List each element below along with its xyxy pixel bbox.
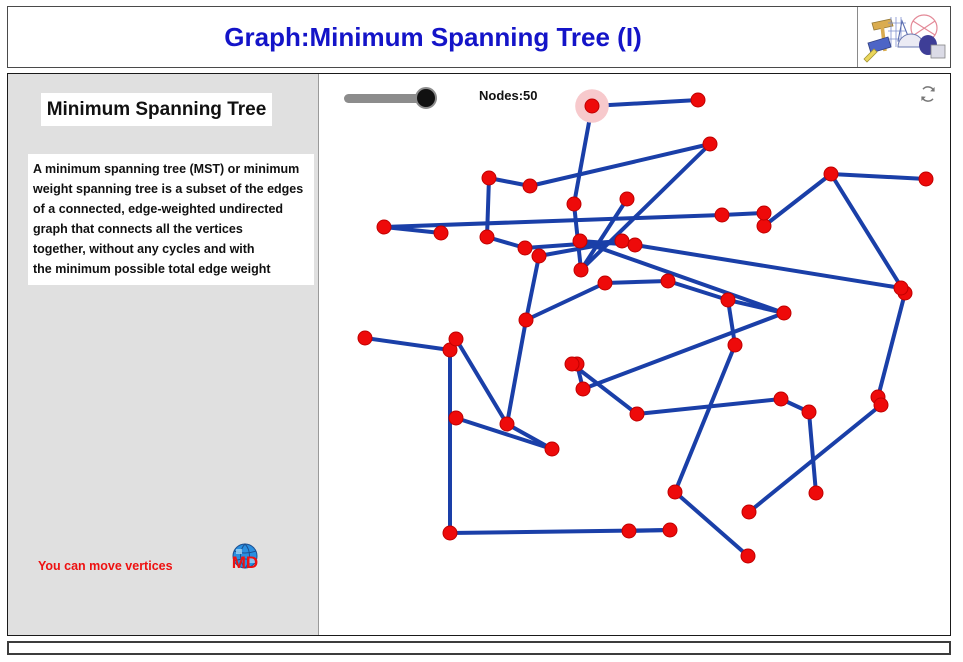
graph-edge xyxy=(583,313,784,389)
graph-edge xyxy=(526,256,539,320)
graph-node[interactable] xyxy=(449,332,463,346)
graph-node[interactable] xyxy=(757,219,771,233)
graph-edge xyxy=(831,174,926,179)
app-page: Graph:Minimum Spanning Tree (I) xyxy=(0,0,963,662)
graph-node[interactable] xyxy=(532,249,546,263)
graph-node[interactable] xyxy=(377,220,391,234)
graph-node[interactable] xyxy=(628,238,642,252)
graph-node[interactable] xyxy=(622,524,636,538)
bottom-strip xyxy=(7,641,951,655)
mst-graph[interactable] xyxy=(319,74,950,635)
graph-node[interactable] xyxy=(703,137,717,151)
graph-node[interactable] xyxy=(565,357,579,371)
graph-edge xyxy=(809,412,816,493)
geometry-tools-clipart-icon xyxy=(857,7,950,67)
graph-node[interactable] xyxy=(919,172,933,186)
graph-node[interactable] xyxy=(741,549,755,563)
graph-node[interactable] xyxy=(742,505,756,519)
graph-node[interactable] xyxy=(576,382,590,396)
graph-edge xyxy=(530,144,710,186)
graph-node[interactable] xyxy=(519,313,533,327)
graph-node[interactable] xyxy=(358,331,372,345)
page-title: Graph:Minimum Spanning Tree (I) xyxy=(8,7,858,67)
graph-node[interactable] xyxy=(757,206,771,220)
graph-edge xyxy=(581,144,710,270)
graph-node[interactable] xyxy=(443,526,457,540)
graph-edge xyxy=(764,174,831,226)
desc-line: of a connected, edge-weighted undirected xyxy=(33,199,310,219)
move-vertices-hint: You can move vertices xyxy=(38,559,173,573)
graph-edge xyxy=(384,215,722,227)
graph-node[interactable] xyxy=(574,263,588,277)
graph-edge xyxy=(487,178,489,237)
graph-node[interactable] xyxy=(668,485,682,499)
graph-node[interactable] xyxy=(449,411,463,425)
graph-edge xyxy=(365,338,450,350)
graph-node[interactable] xyxy=(523,179,537,193)
graph-canvas[interactable]: Nodes:50 xyxy=(319,74,950,635)
graph-edge xyxy=(456,339,507,424)
graph-edge xyxy=(878,293,905,397)
panel-title: Minimum Spanning Tree xyxy=(41,93,272,126)
sidebar: Minimum Spanning Tree A minimum spanning… xyxy=(8,74,319,635)
desc-line: the minimum possible total edge weight xyxy=(33,259,310,279)
graph-node[interactable] xyxy=(721,293,735,307)
graph-node[interactable] xyxy=(567,197,581,211)
graph-node[interactable] xyxy=(573,234,587,248)
graph-node[interactable] xyxy=(620,192,634,206)
graph-edge xyxy=(526,283,605,320)
graph-node[interactable] xyxy=(715,208,729,222)
graph-node[interactable] xyxy=(518,241,532,255)
graph-node[interactable] xyxy=(630,407,644,421)
graph-node[interactable] xyxy=(480,230,494,244)
graph-node[interactable] xyxy=(500,417,514,431)
graph-node[interactable] xyxy=(824,167,838,181)
desc-line: graph that connects all the vertices xyxy=(33,219,310,239)
mst-description: A minimum spanning tree (MST) or minimum… xyxy=(28,154,314,285)
graph-edge xyxy=(675,345,735,492)
graph-edge xyxy=(675,492,748,556)
graph-node[interactable] xyxy=(894,281,908,295)
graph-edge xyxy=(831,174,905,293)
graph-edge xyxy=(605,281,668,283)
main-frame: Minimum Spanning Tree A minimum spanning… xyxy=(7,73,951,636)
graph-node[interactable] xyxy=(728,338,742,352)
graph-node[interactable] xyxy=(802,405,816,419)
graph-node[interactable] xyxy=(545,442,559,456)
graph-node[interactable] xyxy=(434,226,448,240)
graph-node[interactable] xyxy=(777,306,791,320)
graph-node[interactable] xyxy=(615,234,629,248)
graph-node[interactable] xyxy=(661,274,675,288)
graph-node[interactable] xyxy=(585,99,599,113)
graph-node[interactable] xyxy=(598,276,612,290)
svg-text:MD: MD xyxy=(232,553,258,572)
graph-node[interactable] xyxy=(874,398,888,412)
md-globe-logo-icon: MD xyxy=(226,540,264,578)
desc-line: A minimum spanning tree (MST) or minimum xyxy=(33,159,310,179)
graph-node[interactable] xyxy=(482,171,496,185)
desc-line: together, without any cycles and with xyxy=(33,239,310,259)
desc-line: weight spanning tree is a subset of the … xyxy=(33,179,310,199)
graph-node[interactable] xyxy=(809,486,823,500)
graph-edge xyxy=(507,320,526,424)
graph-node[interactable] xyxy=(691,93,705,107)
graph-node[interactable] xyxy=(774,392,788,406)
title-bar: Graph:Minimum Spanning Tree (I) xyxy=(7,6,951,68)
graph-node[interactable] xyxy=(663,523,677,537)
